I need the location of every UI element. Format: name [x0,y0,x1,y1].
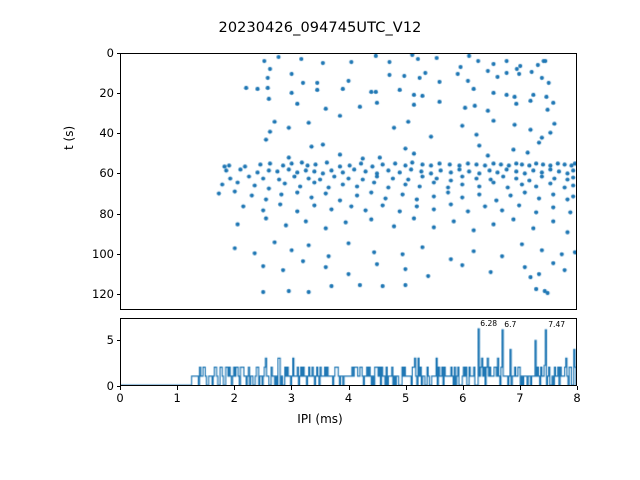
x-tick-label: 0 [100,391,140,405]
x-axis-label: IPI (ms) [0,412,640,426]
x-tick [349,386,350,390]
histogram-peak-annotation: 7.47 [548,320,565,329]
x-tick [463,386,464,390]
figure-title: 20230426_094745UTC_V12 [0,20,640,36]
x-tick [177,386,178,390]
x-tick-label: 2 [214,391,254,405]
scatter-y-tick [117,93,121,94]
scatter-y-tick [117,254,121,255]
x-tick [577,386,578,390]
scatter-y-tick-label: 40 [78,126,114,140]
x-tick [120,386,121,390]
scatter-y-tick [117,133,121,134]
x-tick-label: 8 [557,391,597,405]
histogram-y-tick [117,340,121,341]
scatter-y-tick-label: 0 [78,46,114,60]
scatter-y-tick [117,53,121,54]
scatter-y-tick [117,214,121,215]
x-tick-label: 5 [386,391,426,405]
scatter-y-tick-label: 80 [78,207,114,221]
scatter-y-tick-label: 100 [78,247,114,261]
x-tick [406,386,407,390]
x-tick-label: 7 [500,391,540,405]
x-tick [291,386,292,390]
figure-canvas: 20230426_094745UTC_V12 t (s) 02040608010… [0,0,640,480]
scatter-points-layer [121,54,576,309]
x-tick-label: 4 [329,391,369,405]
scatter-y-tick [117,294,121,295]
x-tick-label: 1 [157,391,197,405]
scatter-y-axis-label: t (s) [62,126,76,150]
x-tick-label: 3 [271,391,311,405]
x-tick-label: 6 [443,391,483,405]
scatter-y-tick-label: 20 [78,86,114,100]
scatter-y-tick-label: 120 [78,287,114,301]
scatter-plot-axes [120,53,577,310]
x-tick [234,386,235,390]
histogram-peak-annotation: 6.28 [480,319,497,328]
x-tick [520,386,521,390]
histogram-peak-annotation: 6.7 [504,320,516,329]
histogram-y-tick-label: 5 [78,333,114,347]
scatter-y-tick-label: 60 [78,166,114,180]
scatter-y-tick [117,173,121,174]
